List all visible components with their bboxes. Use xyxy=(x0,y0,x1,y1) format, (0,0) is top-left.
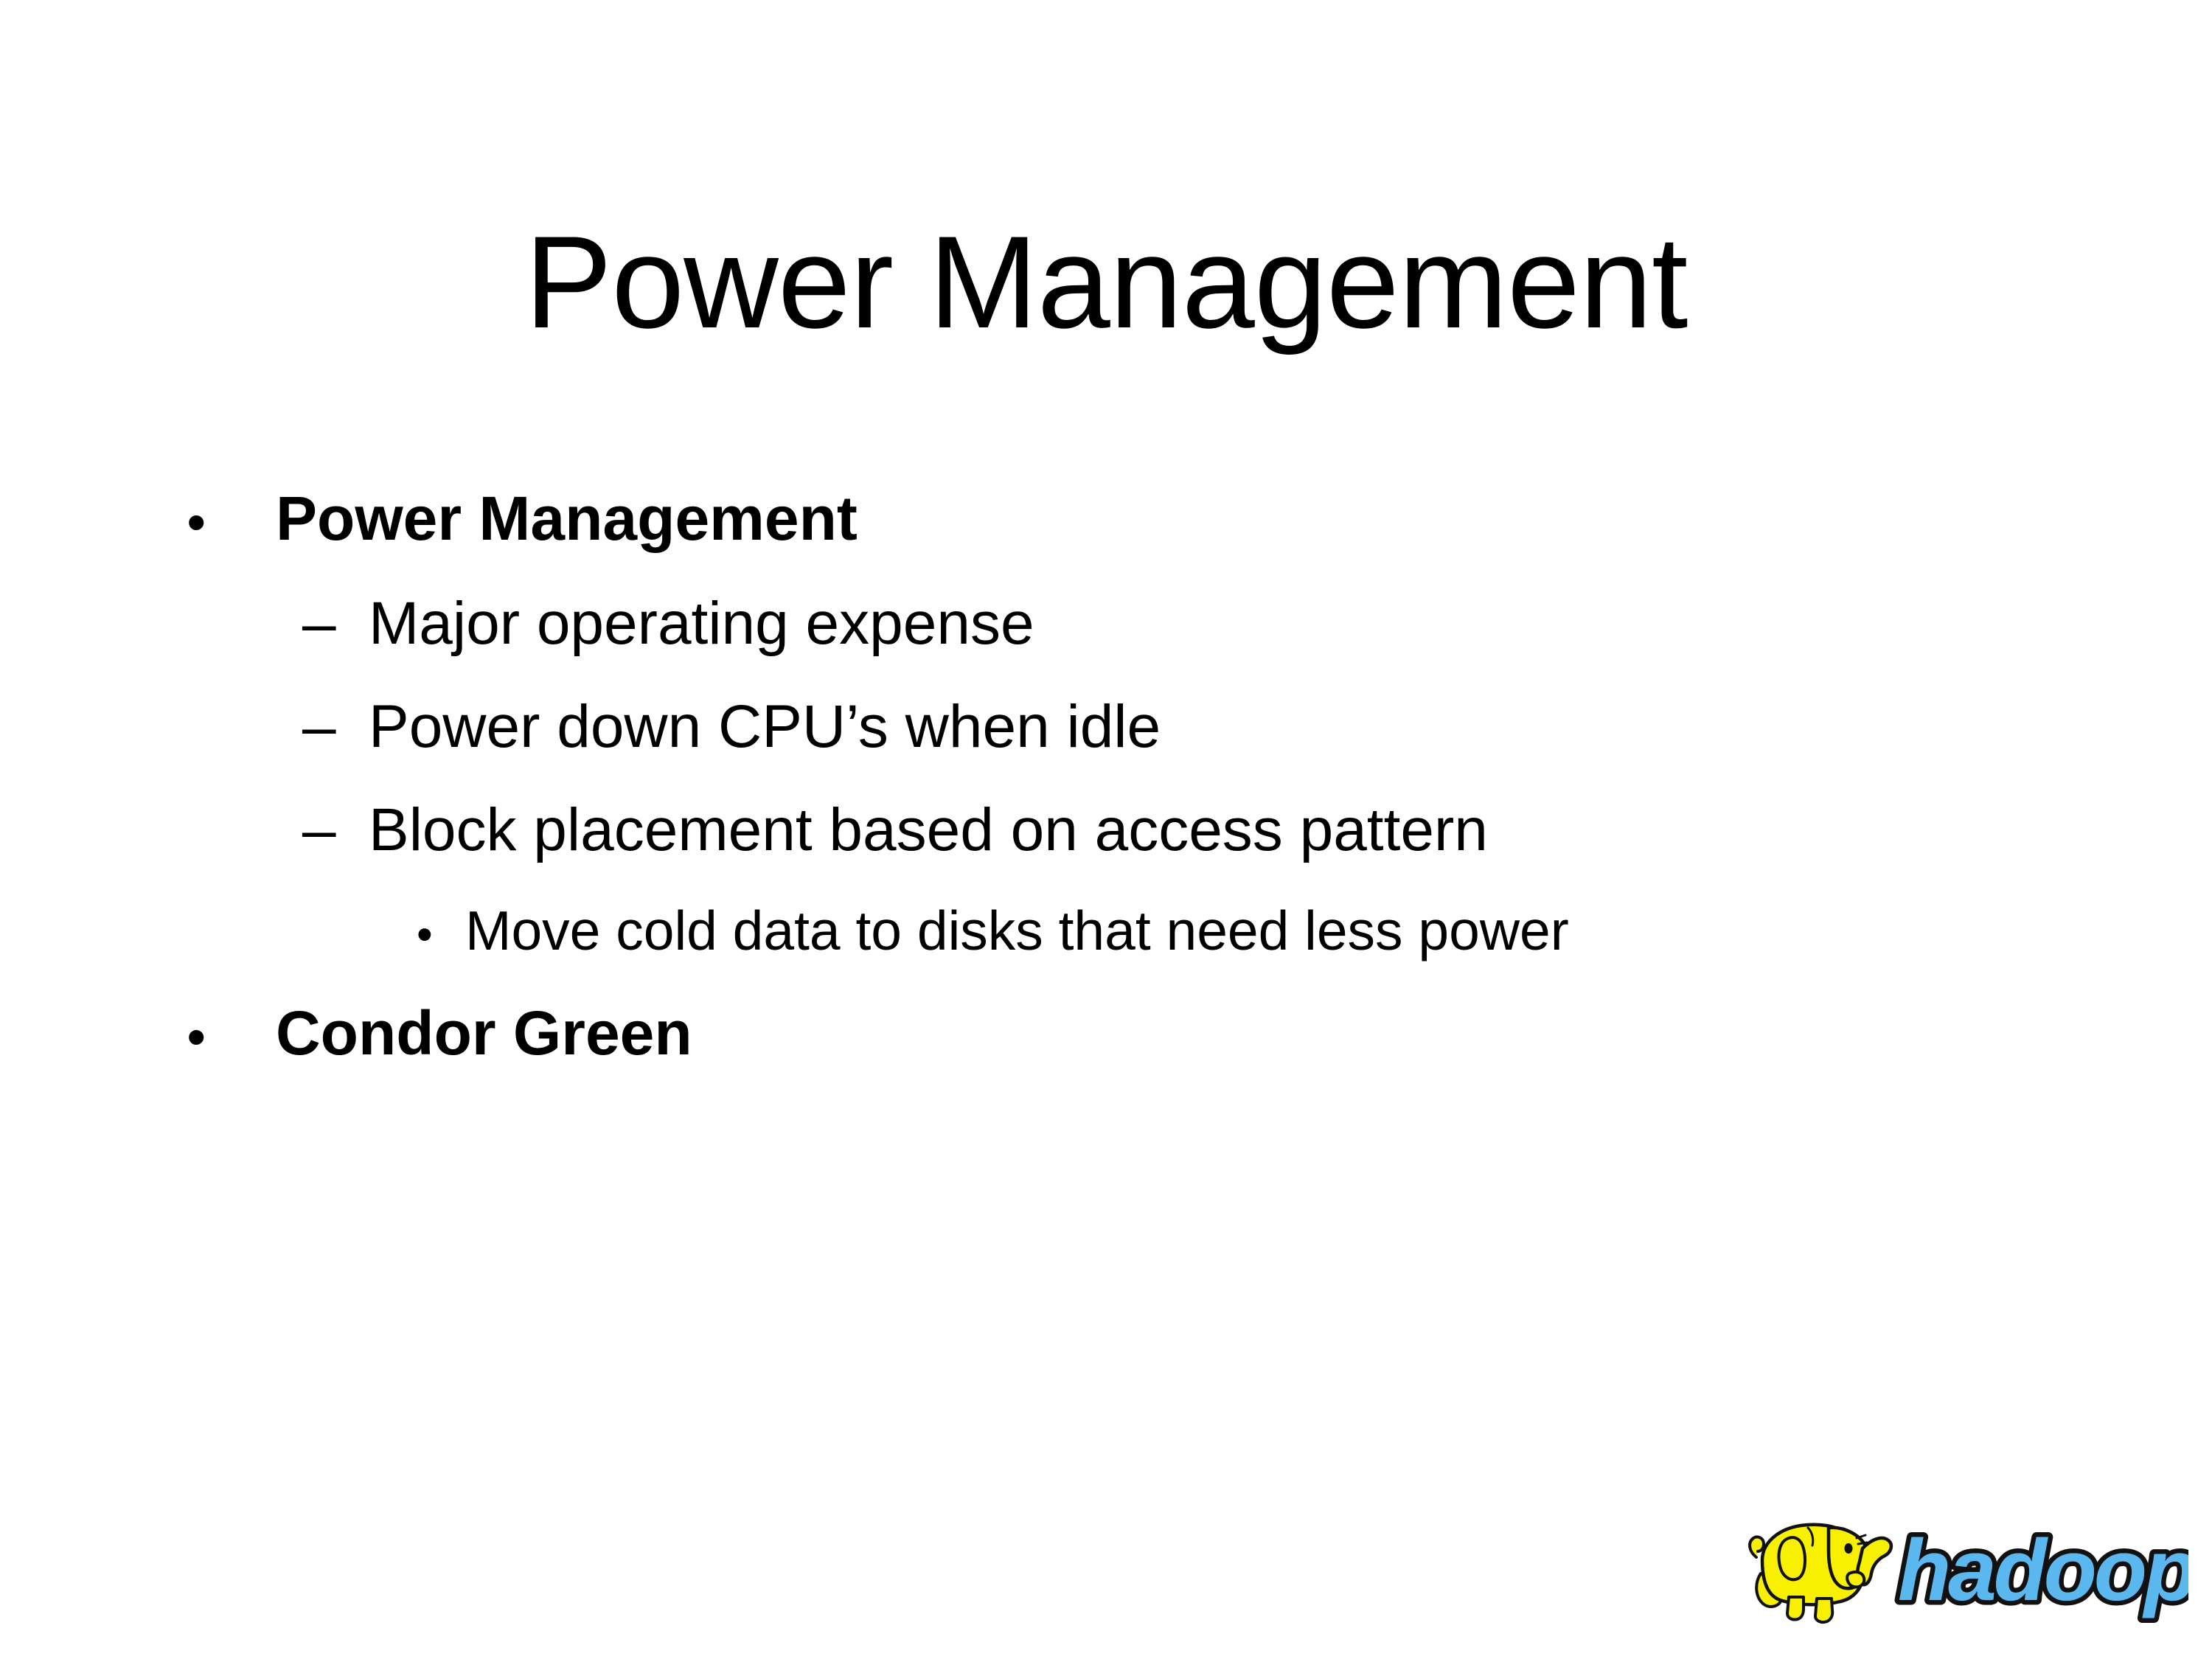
spacer xyxy=(177,570,2050,589)
hadoop-logo: hadoop hadoop xyxy=(1746,1506,2188,1630)
bullet-level1-condor-green: • Condor Green xyxy=(177,998,2050,1085)
svg-text:hadoop: hadoop xyxy=(1898,1522,2188,1619)
bullet-dot-icon: • xyxy=(187,1007,276,1066)
bullet-text: Power Management xyxy=(276,483,858,554)
spacer xyxy=(177,883,2050,899)
spacer xyxy=(177,676,2050,692)
slide-body: • Power Management – Major operating exp… xyxy=(177,483,2050,1085)
slide-title: Power Management xyxy=(177,214,2035,352)
bullet-text: Condor Green xyxy=(276,998,692,1069)
bullet-text: Move cold data to disks that need less p… xyxy=(465,899,1569,962)
bullet-level3-move-cold-data: • Move cold data to disks that need less… xyxy=(177,899,2050,981)
spacer xyxy=(177,779,2050,796)
spacer xyxy=(177,981,2050,998)
bullet-level2-major-operating-expense: – Major operating expense xyxy=(177,589,2050,676)
bullet-dot-icon: • xyxy=(417,908,465,961)
bullet-level2-power-down-cpus: – Power down CPU’s when idle xyxy=(177,692,2050,779)
bullet-text: Power down CPU’s when idle xyxy=(369,692,1161,762)
slide-canvas: Power Management • Power Management – Ma… xyxy=(0,0,2212,1659)
hadoop-wordmark: hadoop hadoop xyxy=(1898,1522,2188,1619)
bullet-dash-icon: – xyxy=(302,589,369,658)
bullet-level1-power-management: • Power Management xyxy=(177,483,2050,570)
bullet-dash-icon: – xyxy=(302,796,369,865)
bullet-dot-icon: • xyxy=(187,493,276,552)
bullet-level2-block-placement: – Block placement based on access patter… xyxy=(177,796,2050,883)
bullet-text: Major operating expense xyxy=(369,589,1034,658)
bullet-text: Block placement based on access pattern xyxy=(369,796,1488,865)
hadoop-elephant-icon xyxy=(1750,1525,1891,1622)
bullet-dash-icon: – xyxy=(302,692,369,762)
